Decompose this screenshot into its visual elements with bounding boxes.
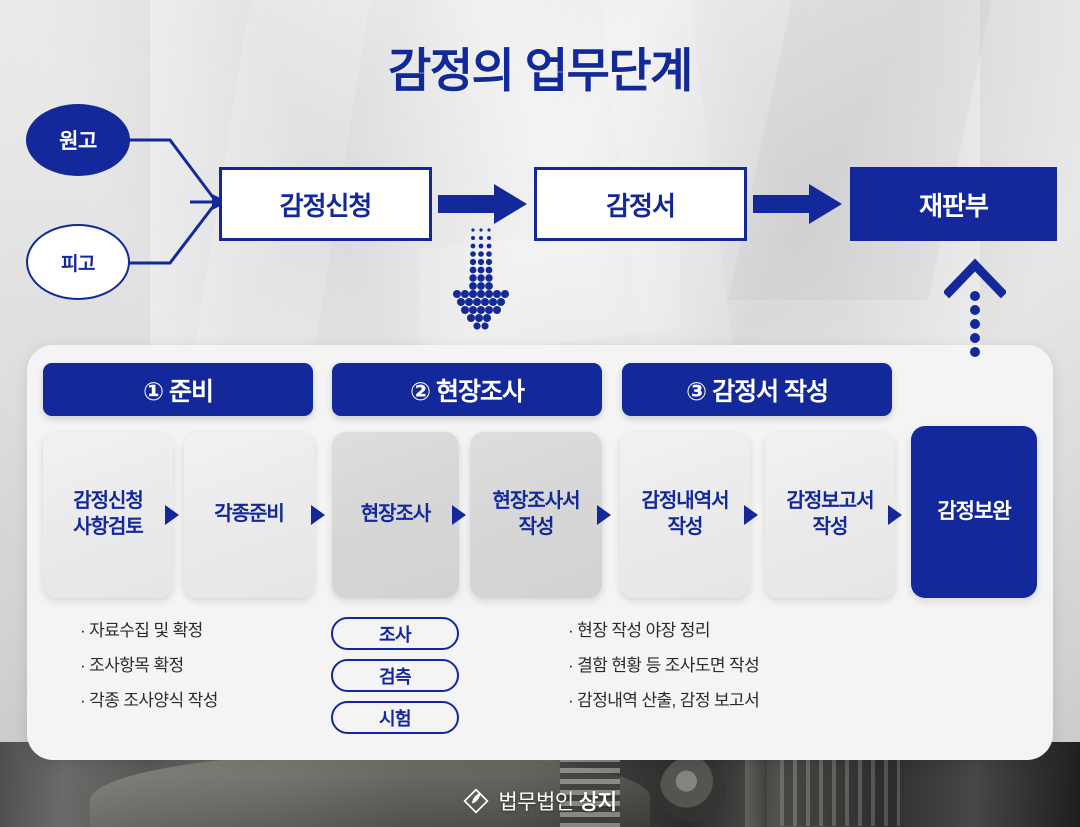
diamond-leaf-logo-icon bbox=[463, 788, 489, 814]
infographic-canvas: 감정의 업무단계 원고 피고 감정신청 감정서 재판부 bbox=[0, 0, 1080, 827]
step-card-line1: 각종준비 bbox=[214, 502, 284, 528]
party-circle-defendant[interactable]: 피고 bbox=[26, 224, 130, 300]
step-card-text: 감정내역서 작성 bbox=[642, 489, 729, 540]
step-arrow-icon bbox=[452, 505, 466, 525]
step-card-1[interactable]: 감정신청 사항검토 bbox=[43, 432, 173, 598]
stage-pill-label: ① 준비 bbox=[143, 372, 213, 408]
stage-pill-label: ② 현장조사 bbox=[410, 372, 524, 408]
flow-box-appraisal-document[interactable]: 감정서 bbox=[534, 167, 747, 241]
party-label-plaintiff: 원고 bbox=[59, 125, 97, 155]
step-arrow-icon bbox=[888, 505, 902, 525]
footer-logo-firm: 법무법인 bbox=[498, 791, 573, 814]
stage-pill-label: ③ 감정서 작성 bbox=[686, 372, 828, 408]
flow-box-court-panel[interactable]: 재판부 bbox=[850, 167, 1057, 241]
step-card-line1: 감정보고서 bbox=[787, 490, 874, 512]
stage-pill-2[interactable]: ② 현장조사 bbox=[332, 363, 602, 416]
step-card-line2: 사항검토 bbox=[73, 516, 143, 538]
bullet-item: · 결함 현황 등 조사도면 작성 bbox=[568, 657, 759, 674]
flow-box-appraisal-request[interactable]: 감정신청 bbox=[219, 167, 432, 241]
party-connector-lines bbox=[120, 100, 230, 310]
stage-pill-3[interactable]: ③ 감정서 작성 bbox=[622, 363, 892, 416]
step-card-5[interactable]: 감정내역서 작성 bbox=[620, 432, 750, 598]
party-label-defendant: 피고 bbox=[61, 249, 95, 276]
step-card-6[interactable]: 감정보고서 작성 bbox=[765, 432, 895, 598]
halftone-arrow-down-icon bbox=[449, 226, 513, 334]
tag-pill-measurement[interactable]: 검측 bbox=[331, 659, 459, 692]
step-card-text: 현장조사서 작성 bbox=[493, 489, 580, 540]
footer-logo: 법무법인 상지 bbox=[0, 786, 1080, 816]
step-card-line2: 작성 bbox=[668, 516, 703, 538]
page-title: 감정의 업무단계 bbox=[0, 32, 1080, 101]
flow-box-label: 감정신청 bbox=[280, 186, 372, 223]
step-card-line1: 감정신청 bbox=[73, 490, 143, 512]
bullet-item: · 현장 작성 야장 정리 bbox=[568, 622, 759, 639]
flow-box-label: 재판부 bbox=[919, 186, 988, 223]
bullet-list-right: · 현장 작성 야장 정리 · 결함 현황 등 조사도면 작성 · 감정내역 산… bbox=[568, 622, 759, 709]
block-arrow-right-icon bbox=[753, 182, 843, 226]
dotted-arrow-up-icon bbox=[944, 258, 1006, 358]
step-card-line2: 작성 bbox=[813, 516, 848, 538]
step-card-text: 감정신청 사항검토 bbox=[73, 489, 143, 540]
flow-box-label: 감정서 bbox=[606, 186, 675, 223]
step-card-7[interactable]: 감정보완 bbox=[911, 426, 1037, 598]
footer-logo-text: 법무법인 상지 bbox=[498, 786, 616, 816]
step-card-line1: 현장조사서 bbox=[493, 490, 580, 512]
step-arrow-icon bbox=[744, 505, 758, 525]
tag-pill-label: 검측 bbox=[379, 663, 411, 689]
step-card-line1: 감정보완 bbox=[937, 499, 1010, 526]
step-arrow-icon bbox=[165, 505, 179, 525]
block-arrow-right-icon bbox=[438, 182, 528, 226]
step-card-line1: 현장조사 bbox=[361, 502, 431, 528]
bullet-item: · 조사항목 확정 bbox=[80, 657, 218, 674]
step-card-line1: 감정내역서 bbox=[642, 490, 729, 512]
tag-pill-label: 시험 bbox=[379, 705, 411, 731]
step-card-3[interactable]: 현장조사 bbox=[332, 432, 459, 598]
step-arrow-icon bbox=[597, 505, 611, 525]
stage-pill-1[interactable]: ① 준비 bbox=[43, 363, 313, 416]
footer-logo-name: 상지 bbox=[579, 791, 617, 814]
step-card-text: 감정보고서 작성 bbox=[787, 489, 874, 540]
bullet-item: · 감정내역 산출, 감정 보고서 bbox=[568, 692, 759, 709]
bullet-item: · 각종 조사양식 작성 bbox=[80, 692, 218, 709]
step-card-2[interactable]: 각종준비 bbox=[184, 432, 314, 598]
bullet-list-left: · 자료수집 및 확정 · 조사항목 확정 · 각종 조사양식 작성 bbox=[80, 622, 218, 709]
party-circle-plaintiff[interactable]: 원고 bbox=[26, 104, 130, 176]
step-card-line2: 작성 bbox=[519, 516, 554, 538]
step-card-4[interactable]: 현장조사서 작성 bbox=[470, 432, 602, 598]
tag-pill-label: 조사 bbox=[379, 621, 411, 647]
step-arrow-icon bbox=[311, 505, 325, 525]
tag-pill-survey[interactable]: 조사 bbox=[331, 617, 459, 650]
tag-pill-test[interactable]: 시험 bbox=[331, 701, 459, 734]
bullet-item: · 자료수집 및 확정 bbox=[80, 622, 218, 639]
